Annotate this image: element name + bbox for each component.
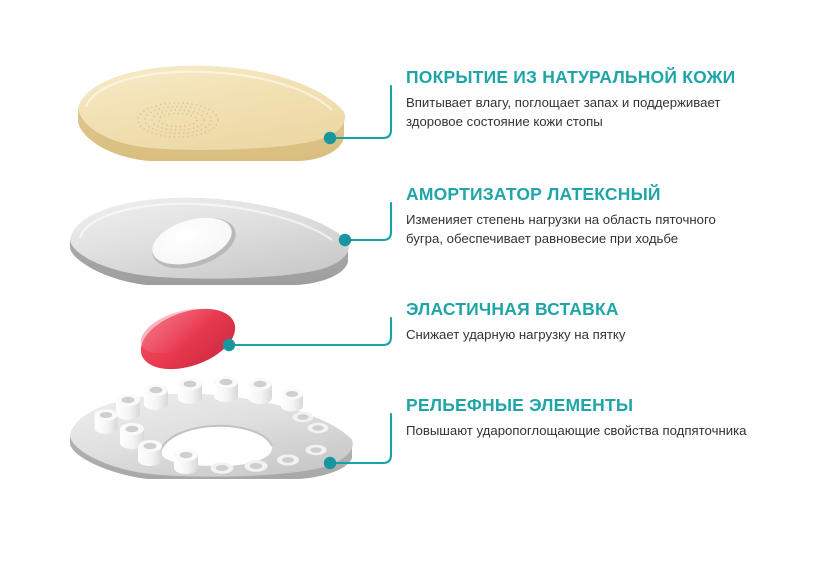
description-relief-line2: подпяточника [662,423,746,438]
heading-latex: АМОРТИЗАТОР ЛАТЕКСНЫЙ [406,185,766,204]
connector-dot-leather [324,132,336,144]
description-leather: Впитывает влагу, поглощает запах и подде… [406,94,751,131]
layer-leather [78,66,345,161]
connector-dot-latex [339,234,351,246]
connector-dot-elastic [223,339,235,351]
connector-dot-relief [324,457,336,469]
description-relief: Повышают ударопоглощающие свойства подпя… [406,422,751,441]
layer-relief [70,376,353,479]
layer-latex [70,198,349,285]
heading-elastic: ЭЛАСТИЧНАЯ ВСТАВКА [406,300,766,319]
description-elastic: Снижает ударную нагрузку на пятку [406,326,751,345]
text-block-relief: РЕЛЬЕФНЫЕ ЭЛЕМЕНТЫ Повышают ударопоглоща… [406,396,766,441]
infographic-canvas: ПОКРЫТИЕ ИЗ НАТУРАЛЬНОЙ КОЖИ Впитывает в… [0,0,816,564]
text-block-latex: АМОРТИЗАТОР ЛАТЕКСНЫЙ Изменияет степень … [406,185,766,249]
heading-relief: РЕЛЬЕФНЫЕ ЭЛЕМЕНТЫ [406,396,766,415]
connector-latex [339,203,391,246]
description-latex-line2: бугра, обеспечивает равновесие при ходьб… [406,231,678,246]
heading-leather: ПОКРЫТИЕ ИЗ НАТУРАЛЬНОЙ КОЖИ [406,68,766,87]
connector-elastic [223,318,391,351]
description-leather-line2: здоровое состояние кожи стопы [406,114,603,129]
description-leather-line1: Впитывает влагу, поглощает запах и подде… [406,95,720,110]
description-latex-line1: Изменияет степень нагрузки на область пя… [406,212,716,227]
text-block-elastic: ЭЛАСТИЧНАЯ ВСТАВКА Снижает ударную нагру… [406,300,766,345]
description-elastic-line1: Снижает ударную нагрузку на пятку [406,327,625,342]
description-relief-line1: Повышают ударопоглощающие свойства [406,423,659,438]
description-latex: Изменияет степень нагрузки на область пя… [406,211,751,248]
layer-elastic [133,298,243,381]
text-block-leather: ПОКРЫТИЕ ИЗ НАТУРАЛЬНОЙ КОЖИ Впитывает в… [406,68,766,132]
